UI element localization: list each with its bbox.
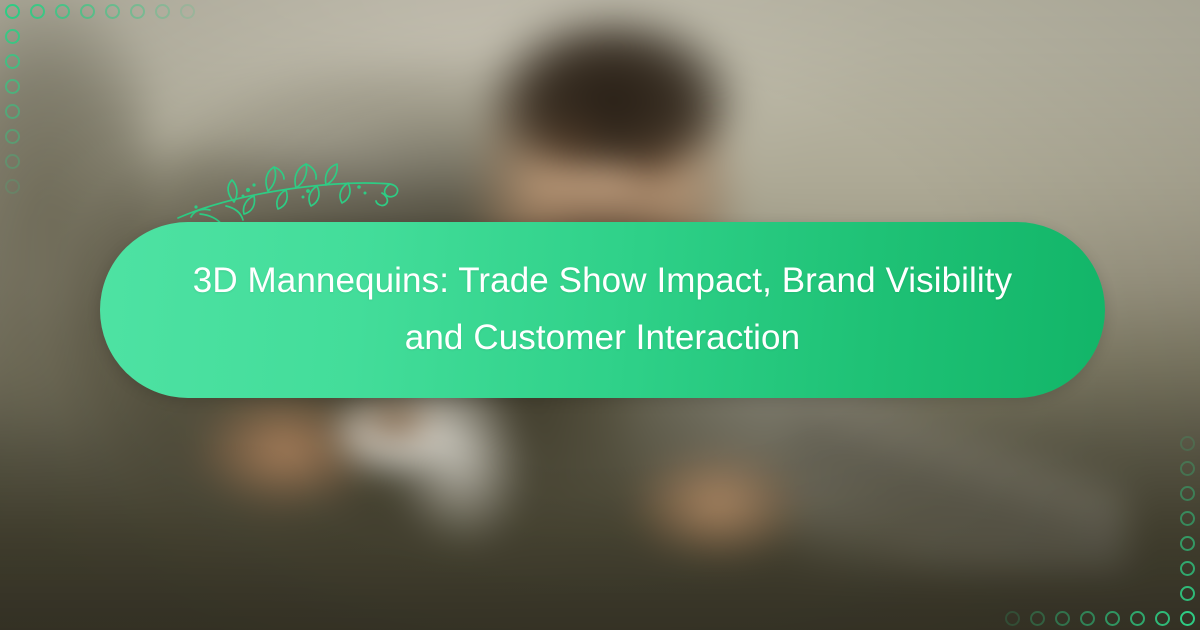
- circle-outline-icon: [1180, 486, 1195, 501]
- circle-outline-icon: [5, 179, 20, 194]
- circle-outline-icon: [1180, 536, 1195, 551]
- circle-outline-icon: [1180, 511, 1195, 526]
- corner-dots-bottom-right: [1005, 436, 1195, 626]
- circle-outline-icon: [5, 154, 20, 169]
- circle-outline-icon: [55, 4, 70, 19]
- circle-outline-icon: [1180, 586, 1195, 601]
- circle-outline-icon: [1055, 611, 1070, 626]
- title-pill: 3D Mannequins: Trade Show Impact, Brand …: [100, 222, 1105, 398]
- circle-outline-icon: [5, 4, 20, 19]
- circle-outline-icon: [1105, 611, 1120, 626]
- circle-outline-icon: [5, 129, 20, 144]
- circle-outline-icon: [1080, 611, 1095, 626]
- circle-outline-icon: [1005, 611, 1020, 626]
- circle-outline-icon: [5, 29, 20, 44]
- circle-outline-icon: [5, 104, 20, 119]
- circle-outline-icon: [180, 4, 195, 19]
- page-title: 3D Mannequins: Trade Show Impact, Brand …: [100, 253, 1105, 366]
- circle-outline-icon: [5, 79, 20, 94]
- circle-outline-icon: [1180, 461, 1195, 476]
- circle-outline-icon: [105, 4, 120, 19]
- circle-outline-icon: [130, 4, 145, 19]
- circle-outline-icon: [155, 4, 170, 19]
- circle-outline-icon: [1180, 611, 1195, 626]
- banner-card: 3D Mannequins: Trade Show Impact, Brand …: [0, 0, 1200, 630]
- circle-outline-icon: [1130, 611, 1145, 626]
- circle-outline-icon: [80, 4, 95, 19]
- circle-outline-icon: [1030, 611, 1045, 626]
- corner-dots-top-left: [5, 4, 195, 194]
- circle-outline-icon: [30, 4, 45, 19]
- circle-outline-icon: [1155, 611, 1170, 626]
- circle-outline-icon: [1180, 561, 1195, 576]
- circle-outline-icon: [5, 54, 20, 69]
- circle-outline-icon: [1180, 436, 1195, 451]
